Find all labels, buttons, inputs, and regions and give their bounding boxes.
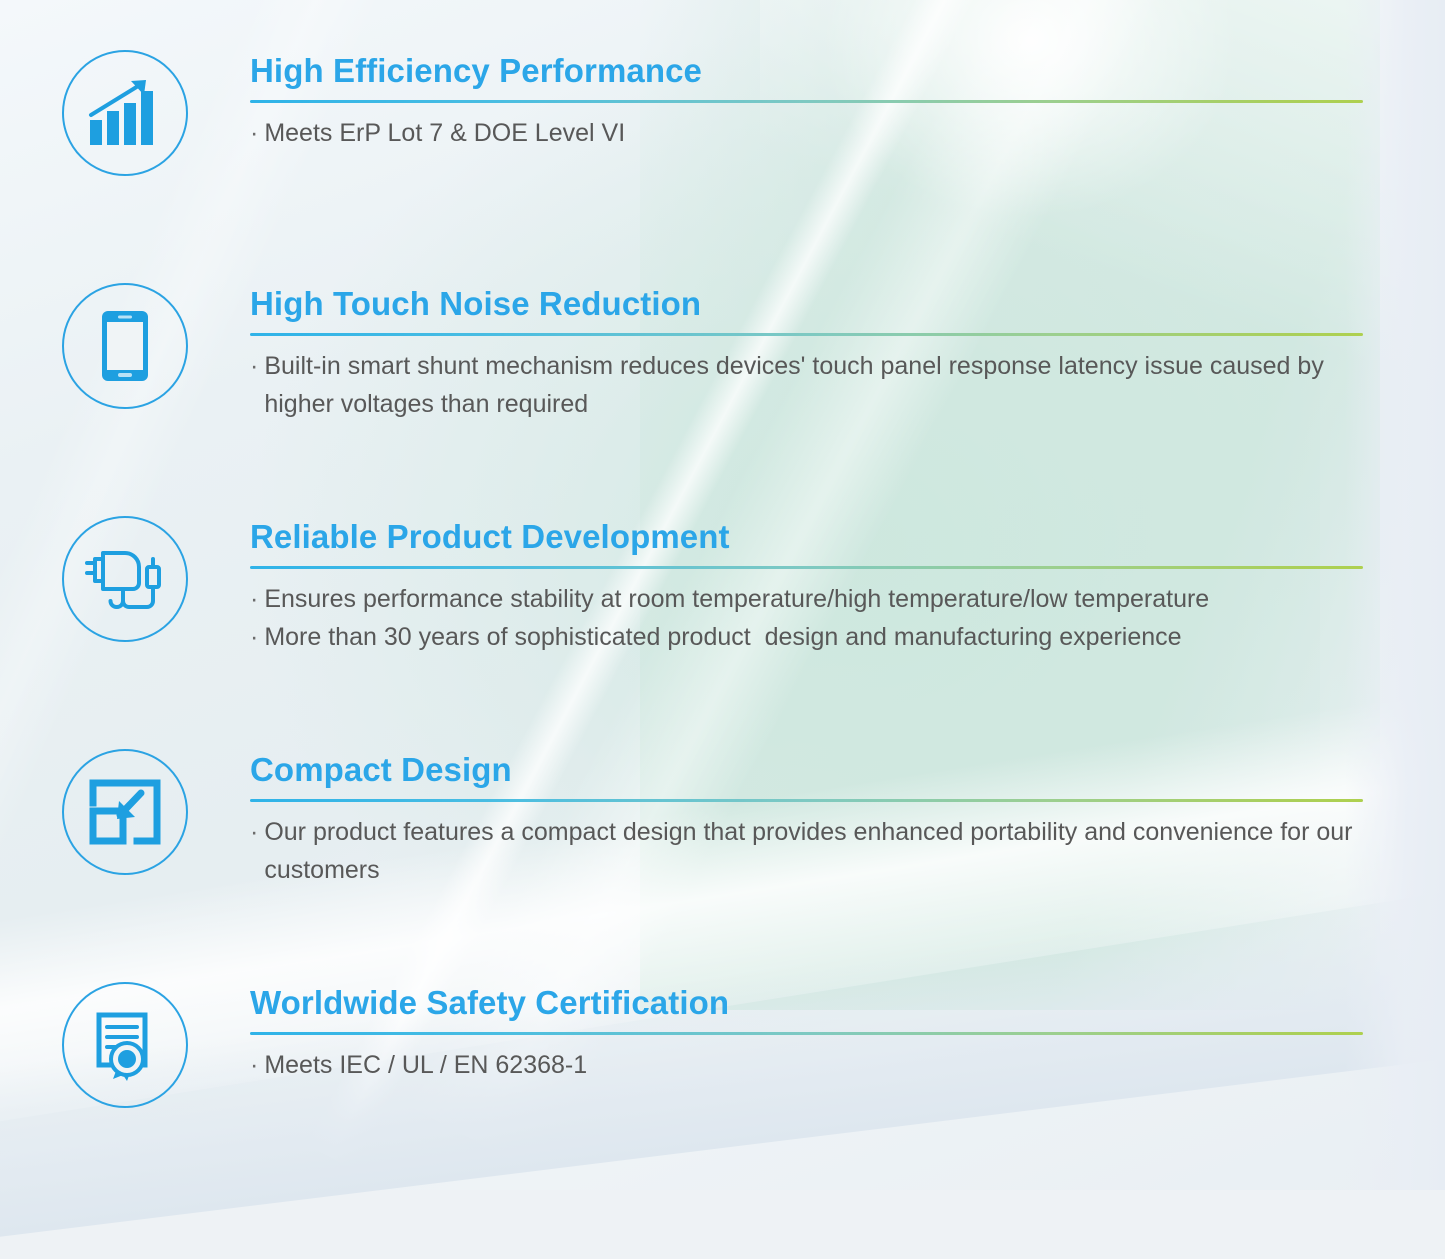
bullet-text: Our product features a compact design th… bbox=[264, 813, 1363, 889]
feature-icon-wrap bbox=[0, 281, 250, 409]
feature-title: Reliable Product Development bbox=[250, 518, 1363, 556]
compact-resize-icon bbox=[62, 749, 188, 875]
feature-icon-wrap bbox=[0, 747, 250, 875]
bullet-text: Ensures performance stability at room te… bbox=[264, 580, 1209, 618]
feature-item-high-efficiency-performance: High Efficiency Performance · Meets ErP … bbox=[0, 48, 1445, 176]
bullet-text: Meets ErP Lot 7 & DOE Level VI bbox=[264, 114, 625, 152]
feature-divider-rule bbox=[250, 799, 1363, 802]
power-adapter-icon bbox=[62, 516, 188, 642]
feature-title: High Touch Noise Reduction bbox=[250, 285, 1363, 323]
feature-divider-rule bbox=[250, 100, 1363, 103]
feature-title: Compact Design bbox=[250, 751, 1363, 789]
bullet-marker: · bbox=[250, 1046, 258, 1084]
feature-bullets: · Ensures performance stability at room … bbox=[250, 580, 1363, 656]
bullet-text: Built-in smart shunt mechanism reduces d… bbox=[264, 347, 1363, 423]
bullet-marker: · bbox=[250, 580, 258, 618]
bullet-item: · More than 30 years of sophisticated pr… bbox=[250, 618, 1363, 656]
bar-chart-growth-icon bbox=[62, 50, 188, 176]
feature-title: Worldwide Safety Certification bbox=[250, 984, 1363, 1022]
feature-bullets: · Our product features a compact design … bbox=[250, 813, 1363, 889]
feature-divider-rule bbox=[250, 566, 1363, 569]
feature-icon-wrap bbox=[0, 514, 250, 642]
feature-text-column: High Touch Noise Reduction · Built-in sm… bbox=[250, 281, 1445, 423]
bullet-item: · Built-in smart shunt mechanism reduces… bbox=[250, 347, 1363, 423]
bullet-marker: · bbox=[250, 813, 258, 851]
bullet-item: · Our product features a compact design … bbox=[250, 813, 1363, 889]
feature-bullets: · Meets ErP Lot 7 & DOE Level VI bbox=[250, 114, 1363, 152]
feature-text-column: Worldwide Safety Certification · Meets I… bbox=[250, 980, 1445, 1084]
feature-item-reliable-product-development: Reliable Product Development · Ensures p… bbox=[0, 514, 1445, 656]
feature-divider-rule bbox=[250, 1032, 1363, 1035]
feature-text-column: Reliable Product Development · Ensures p… bbox=[250, 514, 1445, 656]
feature-bullets: · Built-in smart shunt mechanism reduces… bbox=[250, 347, 1363, 423]
feature-icon-wrap bbox=[0, 48, 250, 176]
bullet-marker: · bbox=[250, 618, 258, 656]
feature-list: High Efficiency Performance · Meets ErP … bbox=[0, 0, 1445, 1190]
smartphone-icon bbox=[62, 283, 188, 409]
feature-text-column: High Efficiency Performance · Meets ErP … bbox=[250, 48, 1445, 152]
bullet-text: More than 30 years of sophisticated prod… bbox=[264, 618, 1181, 656]
bullet-item: · Ensures performance stability at room … bbox=[250, 580, 1363, 618]
bullet-marker: · bbox=[250, 347, 258, 385]
feature-icon-wrap bbox=[0, 980, 250, 1108]
feature-bullets: · Meets IEC / UL / EN 62368-1 bbox=[250, 1046, 1363, 1084]
feature-text-column: Compact Design · Our product features a … bbox=[250, 747, 1445, 889]
certificate-award-icon bbox=[62, 982, 188, 1108]
feature-title: High Efficiency Performance bbox=[250, 52, 1363, 90]
feature-divider-rule bbox=[250, 333, 1363, 336]
bullet-item: · Meets IEC / UL / EN 62368-1 bbox=[250, 1046, 1363, 1084]
bullet-text: Meets IEC / UL / EN 62368-1 bbox=[264, 1046, 587, 1084]
feature-item-worldwide-safety-certification: Worldwide Safety Certification · Meets I… bbox=[0, 980, 1445, 1108]
bullet-item: · Meets ErP Lot 7 & DOE Level VI bbox=[250, 114, 1363, 152]
bullet-marker: · bbox=[250, 114, 258, 152]
feature-item-compact-design: Compact Design · Our product features a … bbox=[0, 747, 1445, 889]
feature-item-high-touch-noise-reduction: High Touch Noise Reduction · Built-in sm… bbox=[0, 281, 1445, 423]
